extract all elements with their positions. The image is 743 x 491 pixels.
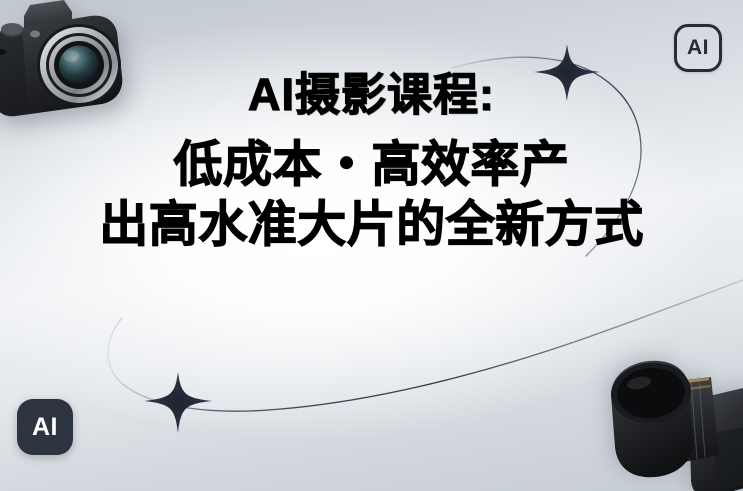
camera-bottom-right-icon (593, 355, 743, 491)
headline-line-3: 出高水准大片的全新方式 (0, 201, 743, 250)
headline-line-1: AI摄影课程: (0, 72, 743, 117)
ai-badge-top-right-label: AI (687, 36, 709, 60)
ai-badge-top-right[interactable]: AI (674, 24, 722, 72)
headline-block: AI摄影课程: 低成本・高效率产 出高水准大片的全新方式 (0, 72, 743, 250)
poster-canvas: AI摄影课程: 低成本・高效率产 出高水准大片的全新方式 AI AI (0, 0, 743, 491)
sparkle-bottom-icon (144, 372, 212, 433)
ai-badge-bottom-left[interactable]: AI (17, 399, 73, 455)
headline-line-2: 低成本・高效率产 (0, 141, 743, 190)
ai-badge-bottom-left-label: AI (32, 413, 58, 442)
